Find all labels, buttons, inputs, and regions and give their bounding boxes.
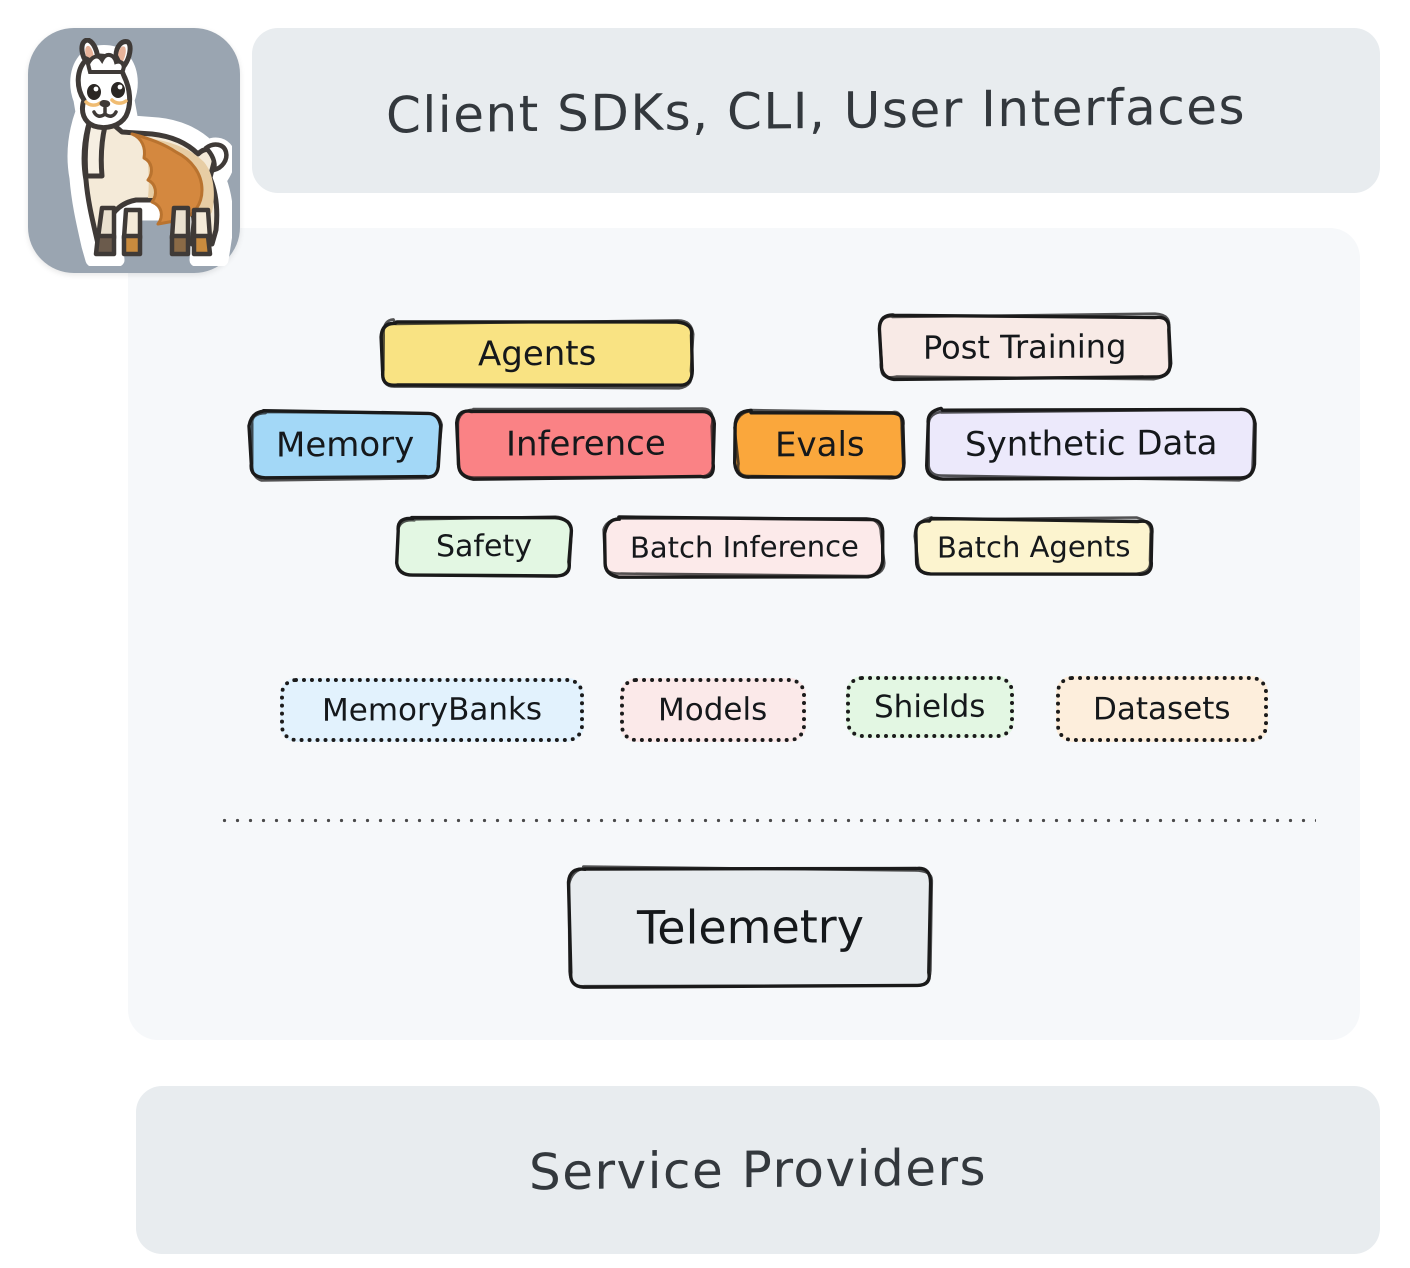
api-box-agents-label: Agents [478, 337, 596, 372]
api-box-inference[interactable]: Inference [458, 410, 714, 478]
api-box-evals-label: Evals [775, 428, 865, 463]
api-box-evals[interactable]: Evals [736, 412, 904, 478]
section-divider [218, 818, 1316, 823]
api-box-post-training-label: Post Training [923, 330, 1126, 363]
telemetry-box[interactable]: Telemetry [570, 868, 930, 986]
api-box-batch-agents-label: Batch Agents [937, 532, 1131, 562]
api-box-synthetic-data[interactable]: Synthetic Data [928, 410, 1254, 478]
resource-box-datasets-label: Datasets [1093, 691, 1231, 728]
client-interfaces-banner: Client SDKs, CLI, User Interfaces [252, 28, 1380, 193]
resource-box-shields[interactable]: Shields [846, 676, 1014, 738]
api-box-batch-agents[interactable]: Batch Agents [916, 520, 1152, 574]
api-box-safety[interactable]: Safety [398, 518, 570, 576]
api-box-post-training[interactable]: Post Training [880, 316, 1170, 378]
api-box-agents[interactable]: Agents [382, 322, 692, 386]
resource-box-models-label: Models [658, 692, 767, 729]
api-box-memory-label: Memory [276, 428, 414, 463]
resource-box-memorybanks[interactable]: MemoryBanks [280, 678, 584, 742]
api-box-synthetic-data-label: Synthetic Data [965, 426, 1218, 462]
telemetry-box-label: Telemetry [637, 903, 864, 951]
client-interfaces-label: Client SDKs, CLI, User Interfaces [386, 77, 1246, 144]
api-box-batch-inference-label: Batch Inference [630, 532, 859, 563]
diagram-canvas: Client SDKs, CLI, User Interfaces [0, 0, 1410, 1268]
api-box-batch-inference[interactable]: Batch Inference [606, 518, 882, 576]
resource-box-datasets[interactable]: Datasets [1056, 676, 1268, 742]
resource-box-models[interactable]: Models [620, 678, 806, 742]
resource-box-memorybanks-label: MemoryBanks [322, 691, 542, 729]
service-providers-banner: Service Providers [136, 1086, 1380, 1254]
api-box-memory[interactable]: Memory [250, 412, 440, 478]
api-box-safety-label: Safety [436, 532, 532, 563]
resource-box-shields-label: Shields [874, 689, 985, 726]
api-box-inference-label: Inference [506, 426, 666, 461]
llama-logo-icon [36, 38, 232, 266]
service-providers-label: Service Providers [529, 1139, 987, 1202]
llama-logo-tile [28, 28, 240, 273]
